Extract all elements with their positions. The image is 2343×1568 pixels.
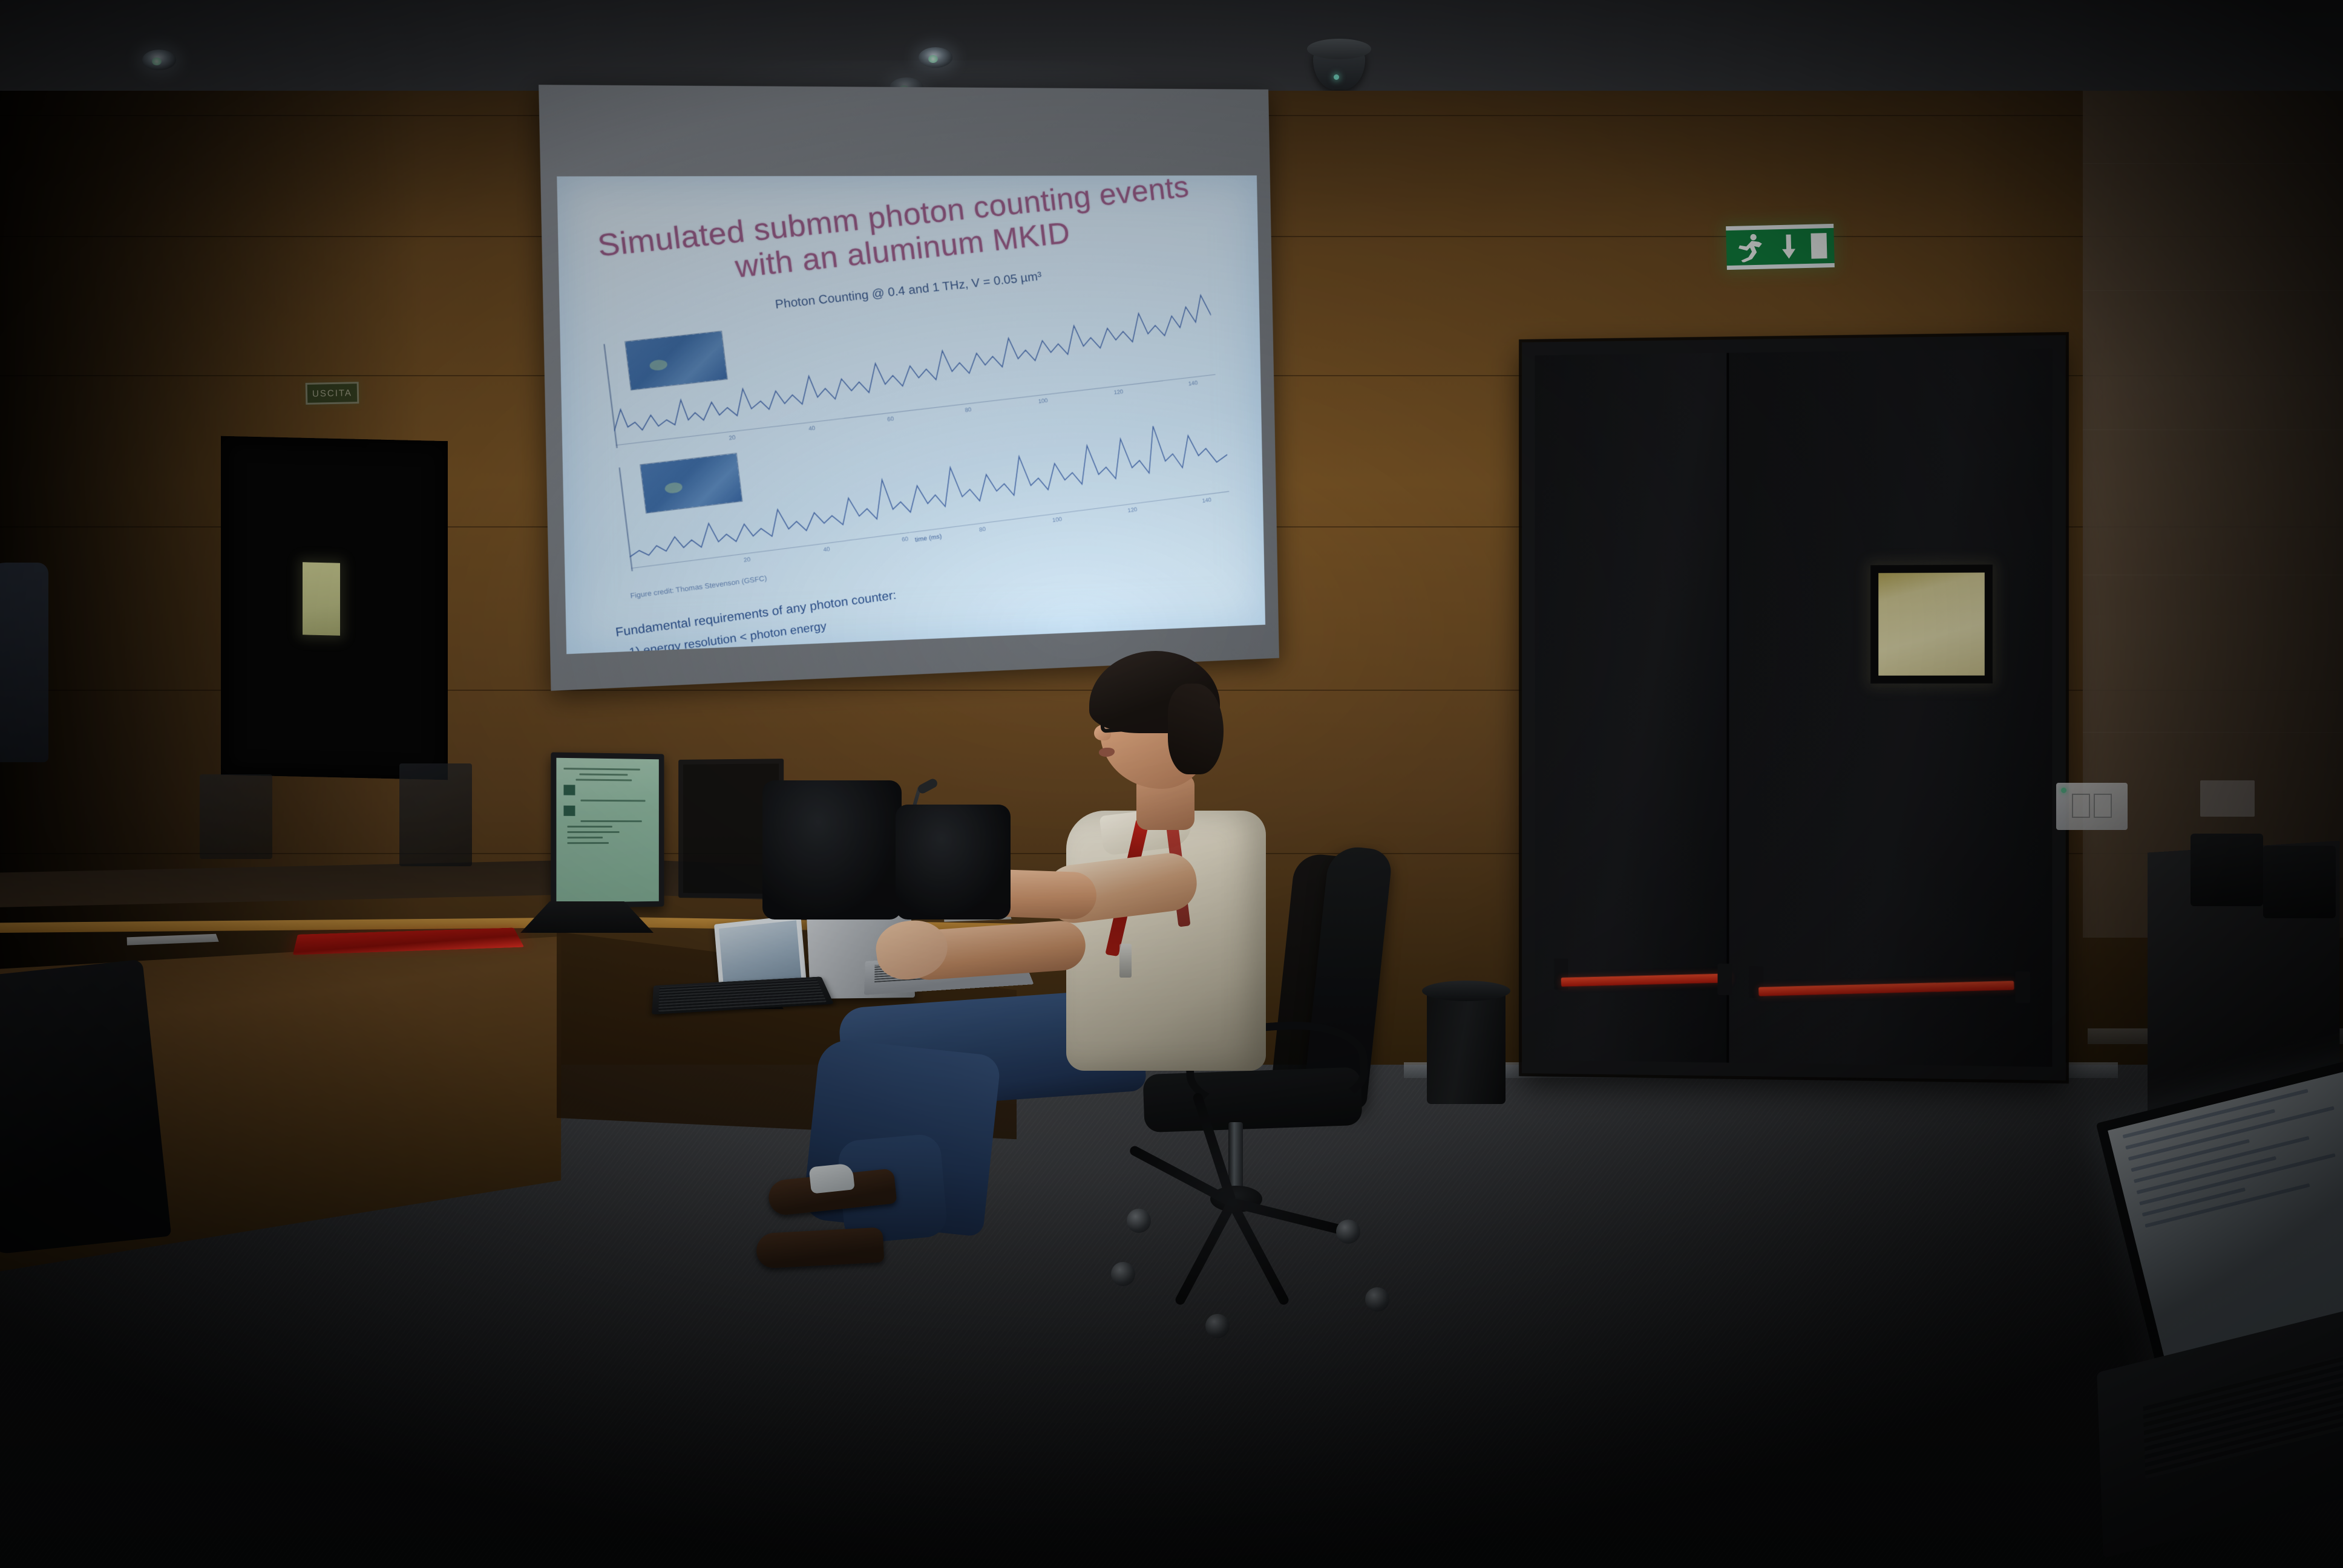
chair-caster	[1365, 1287, 1389, 1312]
chair-right-far	[2263, 846, 2336, 918]
sandal-icon	[756, 1227, 885, 1269]
ceiling-dome-speaker-icon	[1313, 42, 1365, 90]
waste-bin[interactable]	[1427, 989, 1506, 1104]
down-arrow-icon	[1780, 233, 1797, 260]
running-man-icon	[1733, 233, 1766, 263]
switch-indicator-led-icon	[2061, 788, 2066, 793]
equipment-box	[399, 763, 472, 866]
emergency-exit-sign	[1726, 224, 1835, 270]
equipment-box	[200, 774, 272, 859]
chair-right-far	[2191, 834, 2263, 906]
background-person-silhouette	[0, 563, 48, 762]
door-leaf-left[interactable]	[1535, 353, 1729, 1062]
presentation-slide: Simulated submm photon counting events w…	[557, 175, 1265, 654]
foreground-chair-left	[0, 959, 171, 1255]
exit-sign-secondary: USCITA	[306, 382, 359, 405]
monitor-primary[interactable]	[551, 752, 664, 908]
double-doors[interactable]	[1522, 335, 2066, 1080]
exit-door-glyph-icon	[1810, 233, 1827, 259]
sock	[809, 1163, 855, 1194]
far-chair	[762, 780, 902, 920]
ceiling-spotlight-icon	[142, 50, 176, 70]
conference-room-photo: Simulated submm photon counting events w…	[0, 0, 2343, 1568]
projection-screen: Simulated submm photon counting events w…	[539, 85, 1279, 691]
chart-xlabel: time (ms)	[914, 533, 942, 543]
panic-bar-mount	[2015, 971, 2030, 1003]
figure-caption: Figure credit: Thomas Stevenson (GSFC)	[630, 574, 767, 599]
door-leaf-right[interactable]	[1729, 348, 2053, 1067]
person-torso	[1066, 811, 1266, 1071]
door-vision-panel	[1870, 564, 1993, 684]
wall-plate	[2200, 780, 2255, 817]
lanyard-badge-clip	[1119, 944, 1132, 978]
slide-title: Simulated submm photon counting events w…	[566, 175, 1221, 302]
seated-presenter	[908, 659, 1368, 1337]
doorway-light-patch	[303, 562, 340, 635]
far-chair	[896, 805, 1011, 920]
panic-bar-mount	[1717, 964, 1732, 995]
ceiling-spotlight-icon	[919, 47, 952, 68]
monitor-screen	[556, 758, 658, 903]
person-hair-back	[1168, 684, 1224, 774]
